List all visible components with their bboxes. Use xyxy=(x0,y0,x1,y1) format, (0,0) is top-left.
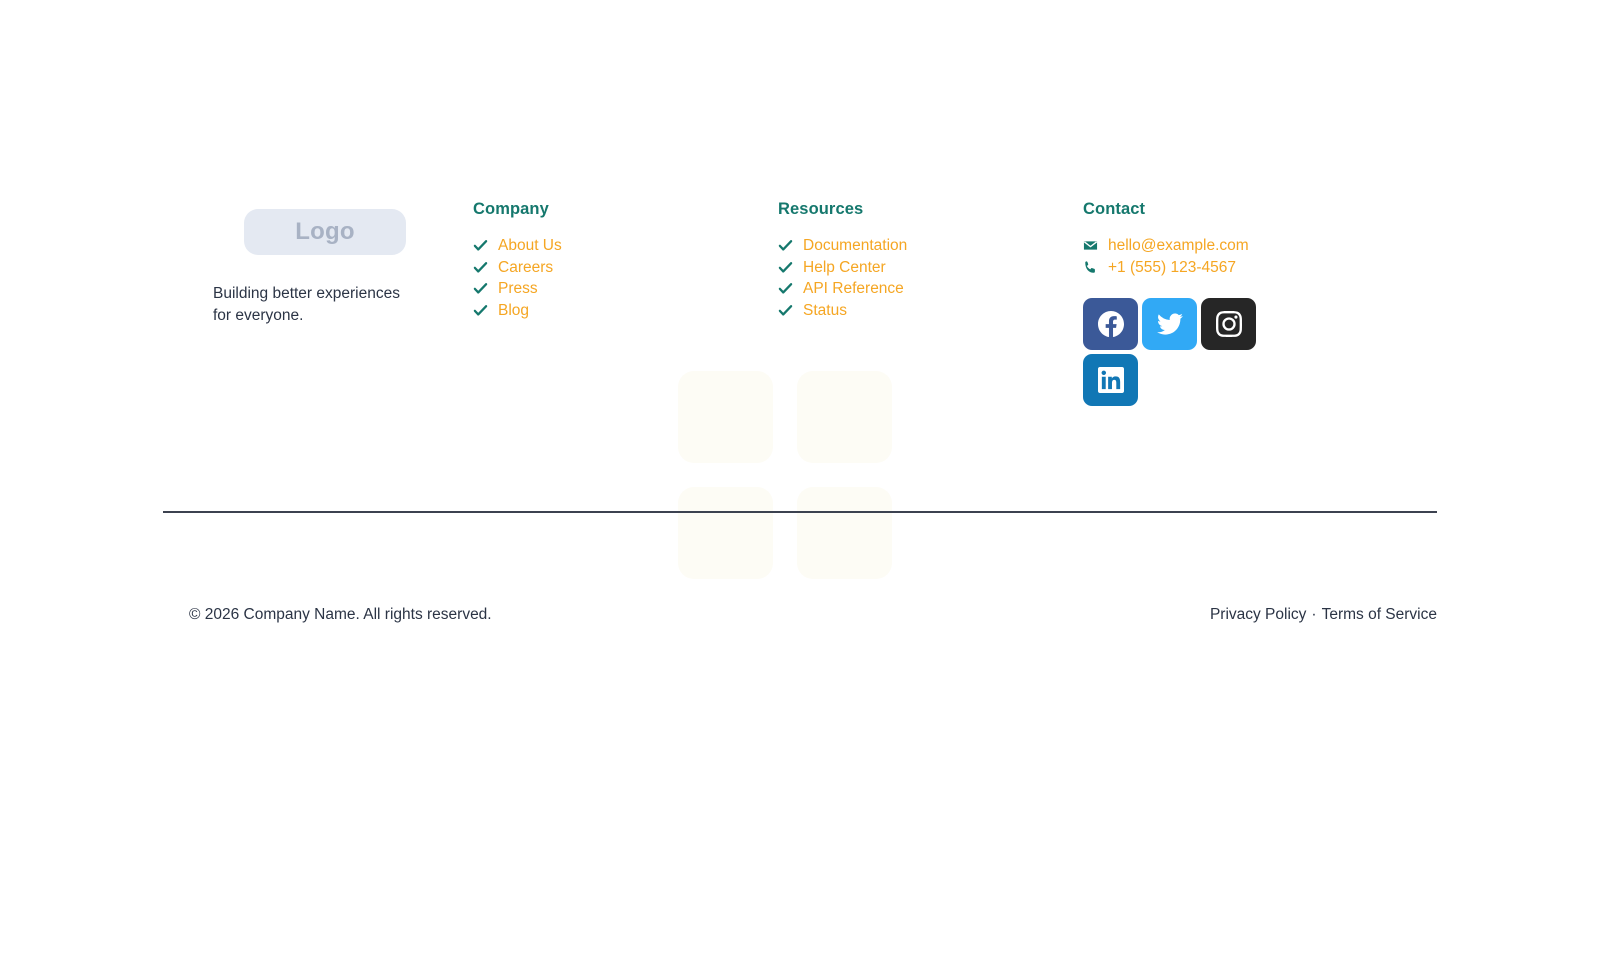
sidebar-item-about-us[interactable]: About Us xyxy=(473,235,778,257)
contact-column: Contact hello@example.com +1 (555) 123-4… xyxy=(1083,200,1393,406)
linkedin-icon xyxy=(1098,367,1124,393)
check-icon xyxy=(473,260,488,275)
sidebar-item-status[interactable]: Status xyxy=(778,300,1083,322)
contact-column-heading: Contact xyxy=(1083,200,1393,219)
legal-separator: · xyxy=(1311,606,1316,624)
facebook-icon xyxy=(1098,311,1124,337)
resources-link-list: Documentation Help Center API Reference xyxy=(778,235,1083,321)
sidebar-item-documentation[interactable]: Documentation xyxy=(778,235,1083,257)
link-label: Blog xyxy=(498,303,529,319)
link-label: Help Center xyxy=(803,260,886,276)
site-footer: Logo Building better experiences for eve… xyxy=(0,0,1600,978)
privacy-policy-link[interactable]: Privacy Policy xyxy=(1210,606,1306,624)
envelope-icon xyxy=(1083,238,1098,253)
sidebar-item-blog[interactable]: Blog xyxy=(473,300,778,322)
contact-phone[interactable]: +1 (555) 123-4567 xyxy=(1083,257,1393,279)
company-column-heading: Company xyxy=(473,200,778,219)
logo-placeholder[interactable]: Logo xyxy=(244,209,406,255)
contact-email[interactable]: hello@example.com xyxy=(1083,235,1393,257)
link-label: Careers xyxy=(498,260,553,276)
social-links xyxy=(1083,298,1256,406)
brand-column: Logo Building better experiences for eve… xyxy=(163,200,473,328)
company-link-list: About Us Careers Press xyxy=(473,235,778,321)
link-label: Press xyxy=(498,281,538,297)
copyright-text: © 2026 Company Name. All rights reserved… xyxy=(189,606,492,624)
check-icon xyxy=(778,281,793,296)
twitter-icon xyxy=(1157,311,1183,337)
social-link-linkedin[interactable] xyxy=(1083,354,1138,406)
check-icon xyxy=(778,238,793,253)
link-label: About Us xyxy=(498,238,562,254)
link-label: Status xyxy=(803,303,847,319)
footer-columns: Logo Building better experiences for eve… xyxy=(163,200,1437,406)
sidebar-item-help-center[interactable]: Help Center xyxy=(778,257,1083,279)
sidebar-item-press[interactable]: Press xyxy=(473,278,778,300)
instagram-icon xyxy=(1216,311,1242,337)
logo-label: Logo xyxy=(295,218,354,246)
social-link-instagram[interactable] xyxy=(1201,298,1256,350)
phone-icon xyxy=(1083,260,1098,275)
footer-bottom-bar: © 2026 Company Name. All rights reserved… xyxy=(163,606,1437,624)
check-icon xyxy=(778,260,793,275)
terms-of-service-link[interactable]: Terms of Service xyxy=(1322,606,1437,624)
contact-list: hello@example.com +1 (555) 123-4567 xyxy=(1083,235,1393,278)
social-link-facebook[interactable] xyxy=(1083,298,1138,350)
check-icon xyxy=(473,303,488,318)
resources-column: Resources Documentation Help Center xyxy=(778,200,1083,321)
brand-tagline: Building better experiences for everyone… xyxy=(213,283,413,328)
check-icon xyxy=(473,281,488,296)
sidebar-item-careers[interactable]: Careers xyxy=(473,257,778,279)
link-label: API Reference xyxy=(803,281,904,297)
check-icon xyxy=(473,238,488,253)
contact-phone-label: +1 (555) 123-4567 xyxy=(1108,260,1236,276)
company-column: Company About Us Careers xyxy=(473,200,778,321)
link-label: Documentation xyxy=(803,238,907,254)
contact-email-label: hello@example.com xyxy=(1108,238,1249,254)
footer-divider xyxy=(163,511,1437,513)
resources-column-heading: Resources xyxy=(778,200,1083,219)
sidebar-item-api-reference[interactable]: API Reference xyxy=(778,278,1083,300)
social-link-twitter[interactable] xyxy=(1142,298,1197,350)
check-icon xyxy=(778,303,793,318)
legal-links: Privacy Policy · Terms of Service xyxy=(1210,606,1437,624)
